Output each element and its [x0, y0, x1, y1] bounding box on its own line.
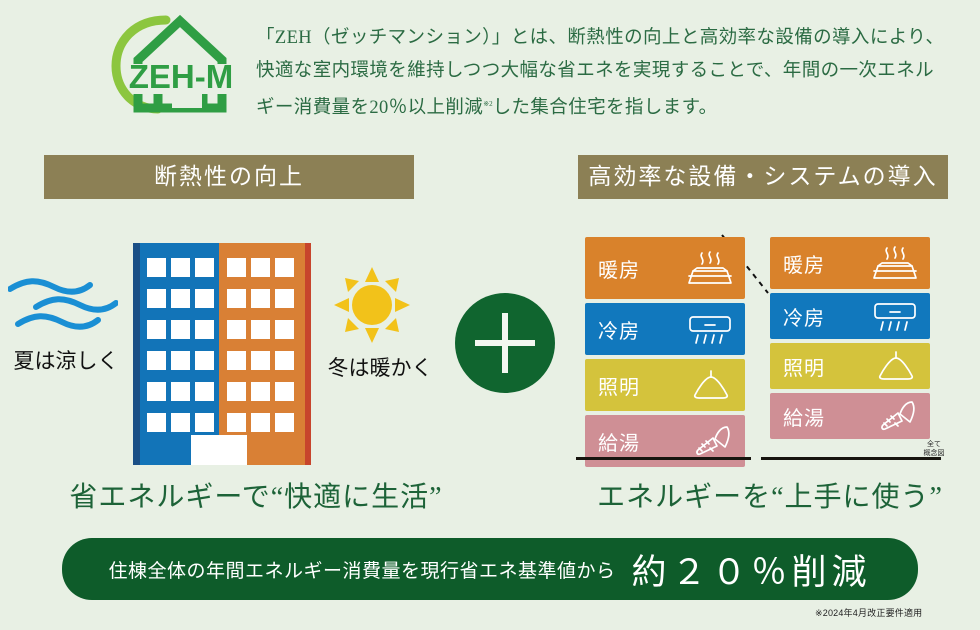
- energy-bar: 給湯: [770, 393, 930, 439]
- lead-line-3-a: ギー消費量を20％以上削減: [256, 98, 483, 118]
- building-window: [251, 351, 270, 370]
- building-window: [195, 289, 214, 308]
- building-window: [251, 320, 270, 339]
- apartment-building-icon: /* windows injected below */: [133, 243, 305, 465]
- air-conditioner-icon: [687, 312, 733, 346]
- building-window: [171, 258, 190, 277]
- lead-line-3: ギー消費量を20％以上削減※2した集合住宅を指します。: [256, 88, 946, 125]
- building-window: [171, 289, 190, 308]
- building-window: [195, 382, 214, 401]
- building-window: [251, 413, 270, 432]
- energy-bar-label: 照明: [783, 352, 825, 381]
- building-window: [227, 320, 246, 339]
- energy-bar-label: 給湯: [783, 402, 825, 431]
- lead-line-3-b: した集合住宅を指します。: [493, 98, 718, 118]
- caption-comfortable-living: 省エネルギーで“快適に生活”: [46, 475, 466, 515]
- heater-icon: [872, 246, 918, 280]
- air-conditioner-icon: [872, 299, 918, 333]
- building-window: [147, 413, 166, 432]
- building-window: [275, 258, 294, 277]
- cool-summer-caption: 夏は涼しく: [2, 345, 130, 375]
- energy-chart: 暖房冷房照明給湯 削減 暖房冷房照明給湯: [560, 205, 980, 467]
- building-window: [195, 351, 214, 370]
- energy-bar-label: 照明: [598, 371, 640, 400]
- building-window: [275, 351, 294, 370]
- building-window: [171, 351, 190, 370]
- baseline-before: [576, 457, 751, 460]
- energy-bar: 照明: [770, 343, 930, 389]
- wind-waves-icon: [8, 277, 118, 332]
- footer-highlight: 約２０％削減: [632, 544, 872, 595]
- pendant-lamp-icon: [874, 350, 918, 382]
- footer-text: 住棟全体の年間エネルギー消費量を現行省エネ基準値から: [108, 556, 615, 583]
- plus-icon: [455, 293, 555, 393]
- building-window: [195, 320, 214, 339]
- building-window: [147, 351, 166, 370]
- building-window: [147, 382, 166, 401]
- building-entrance: [191, 435, 247, 465]
- conceptual-note-line-1: 全て: [912, 440, 956, 449]
- sun-icon: [334, 267, 410, 343]
- energy-stack-before: 暖房冷房照明給湯: [585, 237, 745, 471]
- heater-icon: [687, 251, 733, 285]
- building-window: [171, 382, 190, 401]
- building-window: [195, 258, 214, 277]
- zeh-m-logo-svg: ZEH-M: [108, 12, 238, 117]
- building-window: [147, 289, 166, 308]
- lead-paragraph: 「ZEH（ゼッチマンション）」とは、断熱性の向上と高効率な設備の導入により、 快…: [256, 22, 946, 125]
- header: ZEH-M 「ZEH（ゼッチマンション）」とは、断熱性の向上と高効率な設備の導入…: [0, 0, 980, 135]
- building-window: [251, 289, 270, 308]
- building-window: [275, 382, 294, 401]
- zeh-m-logo-text: ZEH-M: [129, 58, 233, 95]
- building-window: [171, 320, 190, 339]
- building-window: [227, 258, 246, 277]
- energy-stack-after: 削減 暖房冷房照明給湯: [770, 237, 930, 443]
- lead-line-1: 「ZEH（ゼッチマンション）」とは、断熱性の向上と高効率な設備の導入により、: [256, 22, 946, 55]
- building-window: [171, 413, 190, 432]
- shower-head-icon: [691, 423, 733, 459]
- building-window: [227, 382, 246, 401]
- building-window: [275, 289, 294, 308]
- footer-note: ※2024年4月改正要件適用: [815, 606, 922, 619]
- energy-bar: 暖房: [585, 237, 745, 299]
- lead-footnote-marker: ※2: [483, 100, 492, 108]
- energy-bar: 照明: [585, 359, 745, 411]
- pendant-lamp-icon: [689, 369, 733, 401]
- building-window: [275, 413, 294, 432]
- building-window: [147, 258, 166, 277]
- section-title-insulation: 断熱性の向上: [44, 155, 414, 199]
- building-window: [227, 289, 246, 308]
- energy-bar-label: 暖房: [598, 254, 640, 283]
- building-window: [251, 382, 270, 401]
- building-window: [227, 351, 246, 370]
- caption-smart-energy-use: エネルギーを“上手に使う”: [570, 475, 970, 515]
- energy-bar: 冷房: [585, 303, 745, 355]
- infographic-root: ZEH-M 「ZEH（ゼッチマンション）」とは、断熱性の向上と高効率な設備の導入…: [0, 0, 980, 630]
- energy-bar-label: 冷房: [598, 315, 640, 344]
- energy-bar: 冷房: [770, 293, 930, 339]
- shower-head-icon: [876, 398, 918, 434]
- building-window: [147, 320, 166, 339]
- lead-line-2: 快適な室内環境を維持しつつ大幅な省エネを実現することで、年間の一次エネル: [256, 55, 946, 88]
- building-window: [275, 320, 294, 339]
- energy-bar-label: 冷房: [783, 302, 825, 331]
- section-title-equipment: 高効率な設備・システムの導入: [578, 155, 948, 199]
- building-window: [195, 413, 214, 432]
- building-window: [227, 413, 246, 432]
- building-window: [251, 258, 270, 277]
- conceptual-note-line-2: 概念図: [912, 449, 956, 458]
- energy-bar-label: 給湯: [598, 427, 640, 456]
- zeh-m-logo: ZEH-M: [108, 12, 238, 117]
- energy-bar-label: 暖房: [783, 249, 825, 278]
- conceptual-note: 全て 概念図: [912, 440, 956, 458]
- warm-winter-caption: 冬は暖かく: [318, 352, 442, 382]
- footer-banner: 住棟全体の年間エネルギー消費量を現行省エネ基準値から 約２０％削減: [62, 538, 918, 600]
- energy-bar: 暖房: [770, 237, 930, 289]
